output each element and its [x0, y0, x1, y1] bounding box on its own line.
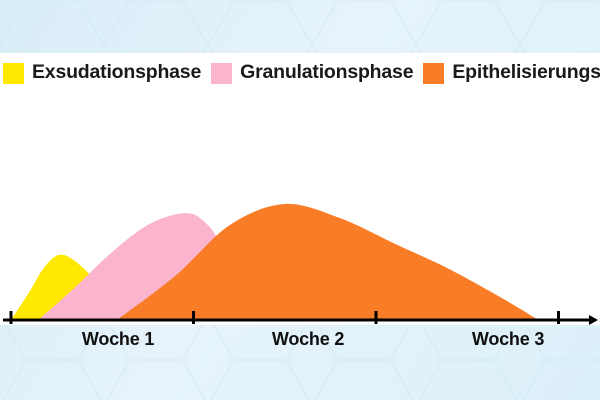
x-axis-label-woche-1: Woche 1 [82, 330, 154, 348]
x-axis-label-woche-3: Woche 3 [472, 330, 544, 348]
x-axis-arrow-icon [589, 315, 598, 325]
x-axis-label-woche-2: Woche 2 [272, 330, 344, 348]
chart-canvas: Exsudationsphase Granulationsphase Epith… [0, 0, 600, 400]
area-series-group [11, 204, 538, 320]
